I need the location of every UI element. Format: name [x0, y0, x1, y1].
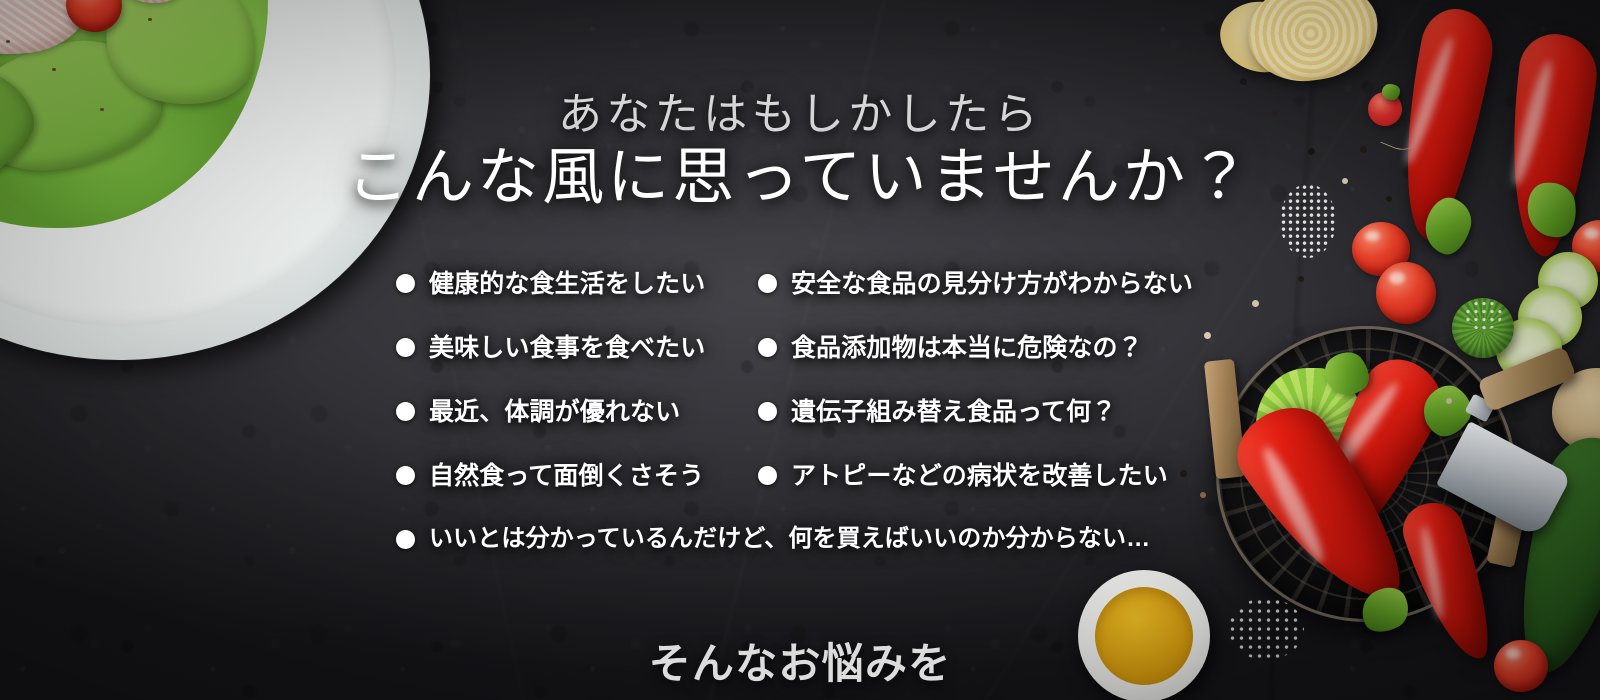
closing-accent-line: しっかり解決します — [0, 692, 1600, 700]
concern-item-2: 安全な食品の見分け方がわからない — [758, 262, 1178, 305]
bullet-dot-icon — [758, 466, 777, 485]
concern-label: 自然食って面倒くさそう — [429, 461, 704, 491]
concern-item-4: 食品添加物は本当に危険なの？ — [758, 326, 1178, 369]
concern-item-6: 遺伝子組み替え食品って何？ — [758, 390, 1178, 433]
bullet-dot-icon — [758, 274, 777, 293]
bullet-dot-icon — [758, 402, 777, 421]
concern-item-9: いいとは分かっているんだけど、何を買えばいいのか分からない… — [396, 518, 1178, 561]
hero-banner: あなたはもしかしたら こんな風に思っていませんか？ 健康的な食生活をしたい 安全… — [0, 0, 1600, 700]
concern-label: 美味しい食事を食べたい — [429, 333, 705, 363]
concern-item-3: 美味しい食事を食べたい — [396, 326, 758, 369]
bullet-dot-icon — [758, 338, 777, 357]
concern-item-7: 自然食って面倒くさそう — [396, 454, 758, 497]
concern-item-8: アトピーなどの病状を改善したい — [758, 454, 1178, 497]
bullet-dot-icon — [396, 274, 415, 293]
concern-label: 最近、体調が優れない — [429, 397, 680, 427]
headline-title: こんな風に思っていませんか？ — [0, 126, 1600, 216]
concern-label: 健康的な食生活をしたい — [429, 269, 705, 299]
concern-item-5: 最近、体調が優れない — [396, 390, 758, 433]
concern-label: いいとは分かっているんだけど、何を買えばいいのか分からない… — [429, 525, 1150, 554]
closing-line: そんなお悩みを — [0, 630, 1600, 691]
concerns-list: 健康的な食生活をしたい 安全な食品の見分け方がわからない 美味しい食事を食べたい… — [396, 262, 1196, 561]
concern-item-1: 健康的な食生活をしたい — [396, 262, 758, 305]
bullet-dot-icon — [396, 466, 415, 485]
concern-label: 遺伝子組み替え食品って何？ — [791, 397, 1116, 427]
bullet-dot-icon — [396, 402, 415, 421]
concern-label: アトピーなどの病状を改善したい — [791, 461, 1168, 491]
bullet-dot-icon — [396, 530, 415, 549]
concerns-grid: 健康的な食生活をしたい 安全な食品の見分け方がわからない 美味しい食事を食べたい… — [396, 262, 1196, 561]
concern-label: 食品添加物は本当に危険なの？ — [791, 333, 1143, 363]
concern-label: 安全な食品の見分け方がわからない — [791, 269, 1193, 299]
hero-copy: あなたはもしかしたら こんな風に思っていませんか？ 健康的な食生活をしたい 安全… — [0, 0, 1600, 700]
bullet-dot-icon — [396, 338, 415, 357]
